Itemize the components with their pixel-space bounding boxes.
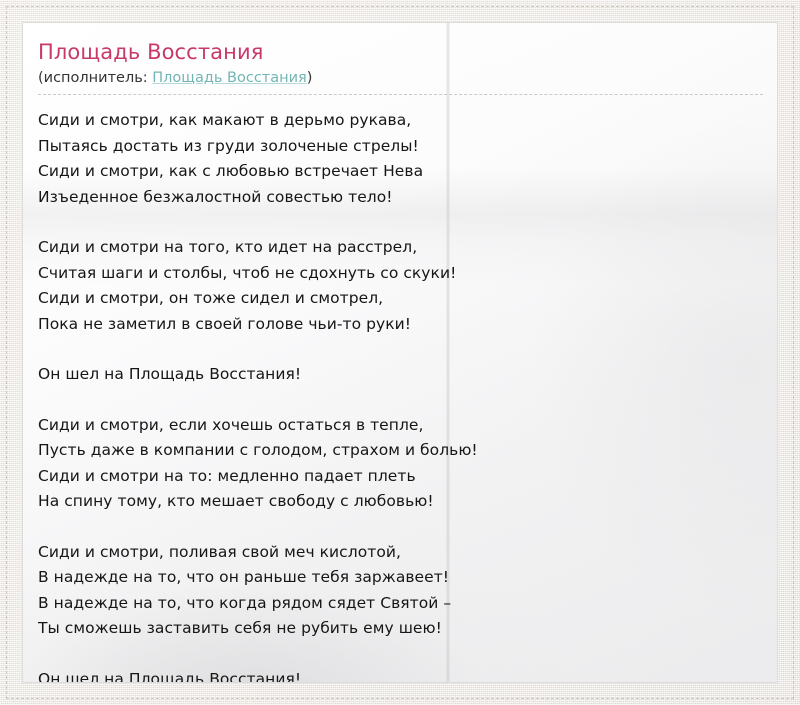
lyrics-line: Сиди и смотри, он тоже сидел и смотрел, xyxy=(38,286,761,312)
lyrics-stanza: Он шел на Площадь Восстания! xyxy=(38,667,761,684)
lyrics-line: Пока не заметил в своей голове чьи-то ру… xyxy=(38,312,761,338)
lyrics-line: В надежде на то, что когда рядом сядет С… xyxy=(38,591,761,617)
lyrics-line: Сиди и смотри на то: медленно падает пле… xyxy=(38,464,761,490)
lyrics-line: В надежде на то, что он раньше тебя зарж… xyxy=(38,565,761,591)
lyrics-line: Он шел на Площадь Восстания! xyxy=(38,362,761,388)
lyrics-line: Сиди и смотри, как макают в дерьмо рукав… xyxy=(38,108,761,134)
lyrics-line: Ты сможешь заставить себя не рубить ему … xyxy=(38,616,761,642)
artist-line: (исполнитель: Площадь Восстания) xyxy=(38,69,761,88)
lyrics-body: Сиди и смотри, как макают в дерьмо рукав… xyxy=(38,108,761,683)
lyrics-line: Пытаясь достать из груди золоченые стрел… xyxy=(38,134,761,160)
title-divider xyxy=(38,94,763,95)
lyrics-line: Сиди и смотри, как с любовью встречает Н… xyxy=(38,159,761,185)
lyrics-stanza: Он шел на Площадь Восстания! xyxy=(38,362,761,388)
lyrics-line: Сиди и смотри, поливая свой меч кислотой… xyxy=(38,540,761,566)
page-title: Площадь Восстания xyxy=(38,39,761,66)
lyrics-stanza: Сиди и смотри на того, кто идет на расст… xyxy=(38,235,761,337)
lyrics-line: Считая шаги и столбы, чтоб не сдохнуть с… xyxy=(38,261,761,287)
lyrics-line: Он шел на Площадь Восстания! xyxy=(38,667,761,684)
lyrics-content-card: Площадь Восстания (исполнитель: Площадь … xyxy=(22,22,778,683)
lyrics-line: На спину тому, кто мешает свободу с любо… xyxy=(38,489,761,515)
lyrics-stanza: Сиди и смотри, как макают в дерьмо рукав… xyxy=(38,108,761,210)
lyrics-line: Изъеденное безжалостной совестью тело! xyxy=(38,185,761,211)
lyrics-stanza: Сиди и смотри, поливая свой меч кислотой… xyxy=(38,540,761,642)
artist-suffix-label: ) xyxy=(307,70,313,86)
card-inner-content: Площадь Восстания (исполнитель: Площадь … xyxy=(23,23,777,683)
lyrics-stanza: Сиди и смотри, если хочешь остаться в те… xyxy=(38,413,761,515)
artist-link[interactable]: Площадь Восстания xyxy=(152,70,307,86)
artist-prefix-label: (исполнитель: xyxy=(38,70,152,86)
lyrics-line: Сиди и смотри, если хочешь остаться в те… xyxy=(38,413,761,439)
lyrics-line: Сиди и смотри на того, кто идет на расст… xyxy=(38,235,761,261)
lyrics-line: Пусть даже в компании с голодом, страхом… xyxy=(38,438,761,464)
